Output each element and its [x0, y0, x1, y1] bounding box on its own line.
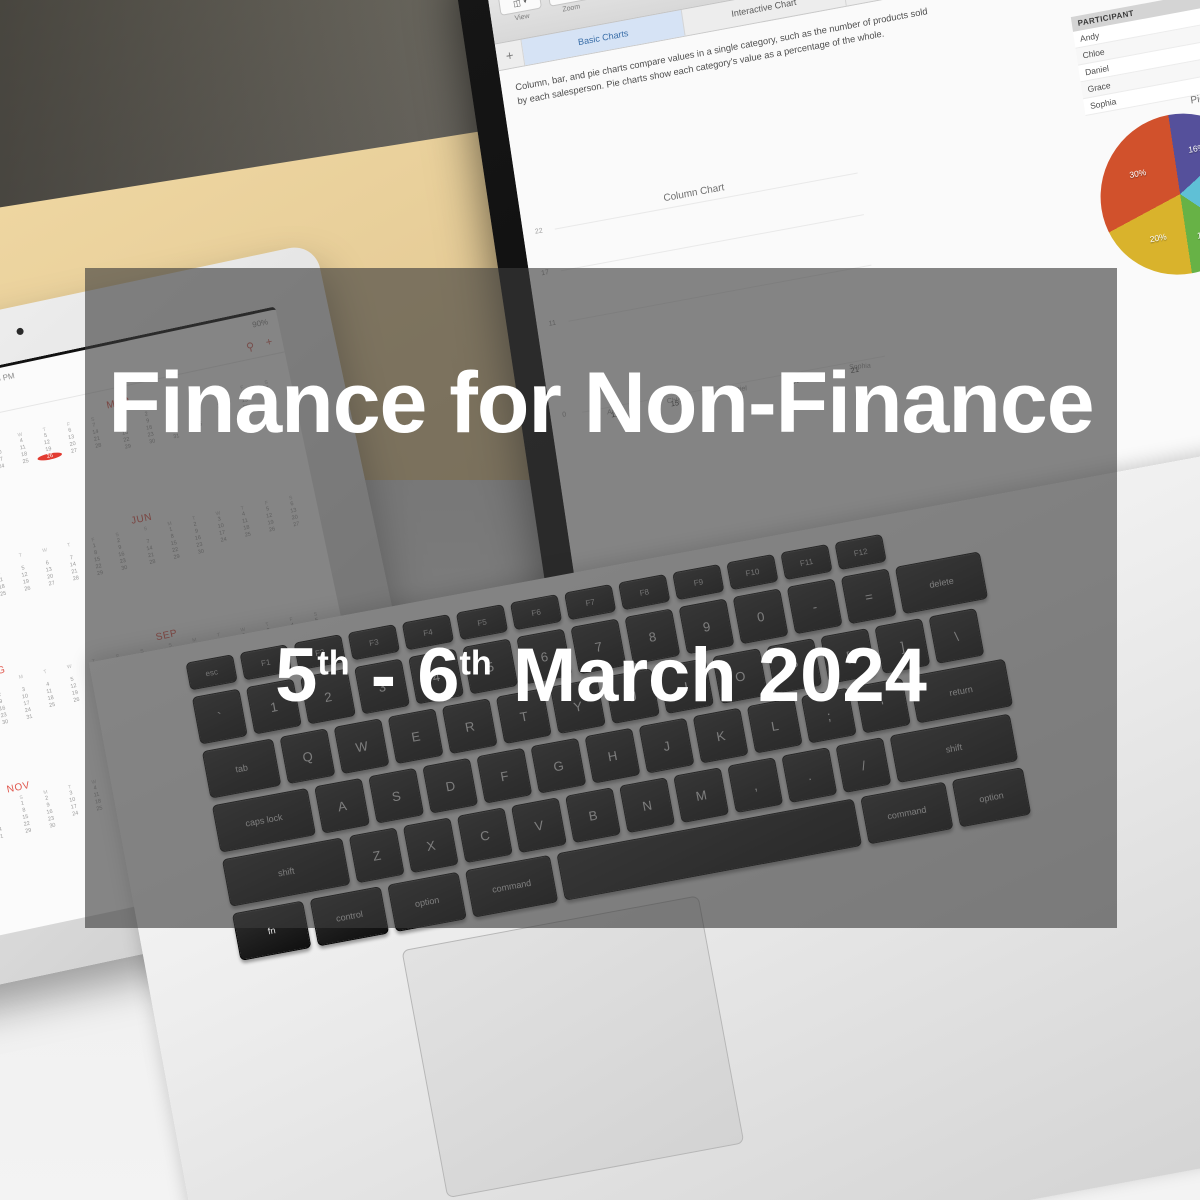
pie-chart-slice-label: 20%	[1149, 231, 1167, 244]
date-ordinal-start: th	[317, 645, 349, 683]
date-day-end: 6	[417, 633, 459, 718]
pie-chart-slice-label: 13%	[1196, 228, 1200, 241]
status-time: 4:35 PM	[0, 371, 15, 386]
date-month-year: March 2024	[492, 633, 927, 718]
column-chart-y-tick: 22	[535, 227, 544, 235]
add-sheet-button[interactable]: +	[495, 40, 525, 71]
trackpad[interactable]	[401, 895, 744, 1198]
date-day-start: 5	[275, 633, 317, 718]
event-date: 5th - 6th March 2024	[85, 638, 1117, 714]
zoom-control[interactable]: 150%▾ Zoom	[547, 0, 593, 16]
date-separator: -	[350, 633, 418, 718]
page-title: Finance for Non-Finance	[85, 360, 1117, 446]
pie-chart-slice-label: 16%	[1188, 142, 1200, 155]
pie-chart-slice-label: 30%	[1129, 167, 1147, 180]
promo-banner: 4:35 PM 90% 2015 DayWeekMonthYear ⚲ + JA…	[0, 0, 1200, 1200]
zoom-label: Zoom	[562, 3, 581, 13]
toolbar-left-controls: ◫▾ View 150%▾ Zoom	[498, 0, 593, 25]
view-label: View	[514, 13, 530, 23]
date-ordinal-end: th	[459, 645, 491, 683]
title-overlay: Finance for Non-Finance 5th - 6th March …	[85, 268, 1117, 928]
pie-chart-circle[interactable]: 16%21%13%20%30%	[1090, 100, 1200, 287]
view-control[interactable]: ◫▾ View	[498, 0, 544, 25]
calendar-days[interactable]: 1234567891011121314151617181920212223242…	[0, 804, 13, 873]
